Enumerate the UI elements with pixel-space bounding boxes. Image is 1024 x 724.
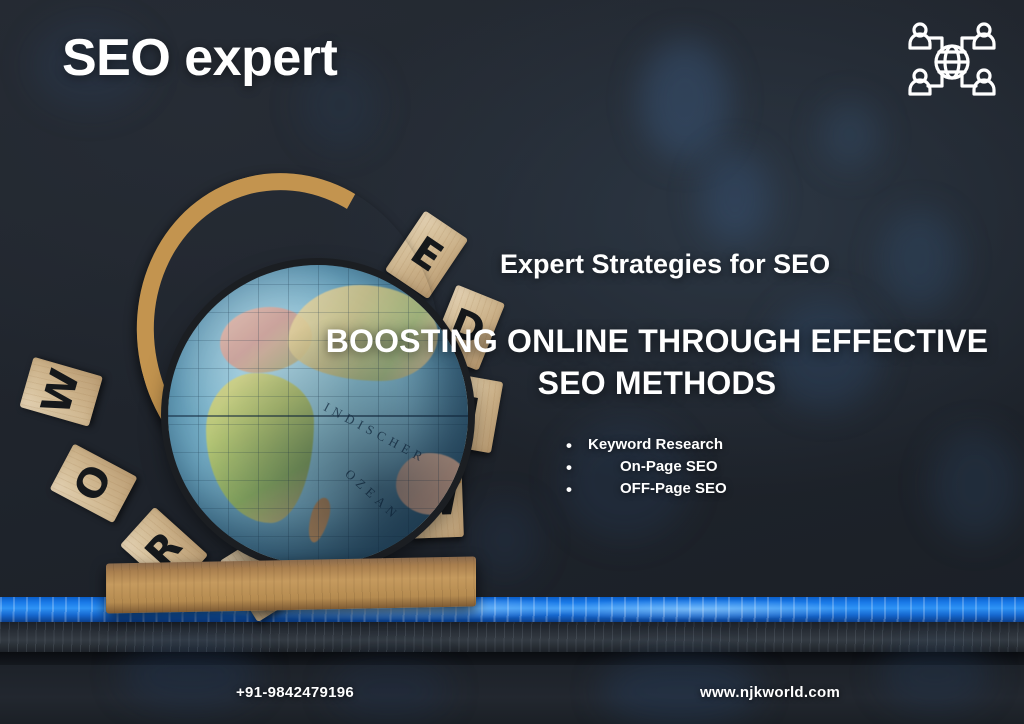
subheadline: Expert Strategies for SEO	[500, 249, 1010, 280]
globe-sphere: INDISCHER OZEAN	[168, 265, 468, 565]
contact-phone[interactable]: +91-9842479196	[236, 684, 354, 701]
list-item: On-Page SEO	[560, 456, 890, 478]
letter-tile: O	[50, 443, 138, 523]
globe-base-block	[106, 556, 476, 613]
letter-tile: W	[19, 357, 103, 427]
main-headline: BOOSTING ONLINE THROUGH EFFECTIVE SEO ME…	[296, 320, 1018, 404]
footer-band	[0, 665, 1024, 724]
seo-poster: W O R L D W I D E	[0, 0, 1024, 724]
global-network-icon	[902, 16, 1002, 108]
list-item: OFF-Page SEO	[560, 478, 890, 500]
letter-tile-char: O	[65, 457, 122, 509]
page-title: SEO expert	[62, 28, 337, 88]
contact-website[interactable]: www.njkworld.com	[700, 684, 840, 701]
globe-shading	[168, 265, 468, 565]
list-item: Keyword Research	[560, 434, 890, 456]
letter-tile-char: W	[33, 364, 89, 419]
feature-list: Keyword Research On-Page SEO OFF-Page SE…	[560, 434, 890, 501]
shelf-front-edge	[0, 622, 1024, 652]
